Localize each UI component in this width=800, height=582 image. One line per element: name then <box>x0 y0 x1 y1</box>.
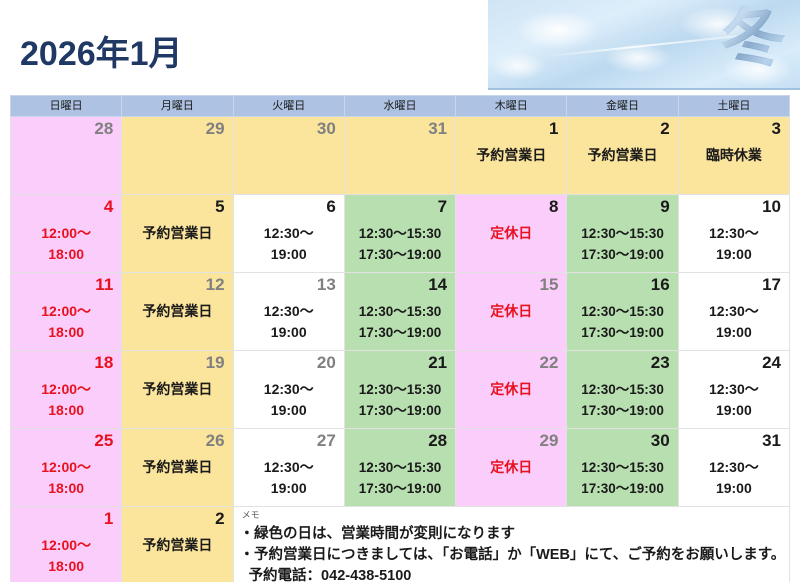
day-note: 12:30〜15:30 17:30〜19:00 <box>567 295 677 343</box>
day-number: 31 <box>679 429 789 451</box>
calendar-page: 冬 2026年1月 日曜日 月曜日 火曜日 水曜日 木曜日 金曜日 土曜日 28… <box>0 0 800 582</box>
day-note: 12:30〜15:30 17:30〜19:00 <box>345 295 455 343</box>
calendar-day-cell[interactable]: 1612:30〜15:30 17:30〜19:00 <box>567 273 678 351</box>
day-note: 12:00〜 18:00 <box>11 451 121 499</box>
day-number: 6 <box>234 195 344 217</box>
calendar-day-cell[interactable]: 2512:00〜 18:00 <box>11 429 122 507</box>
day-number: 17 <box>679 273 789 295</box>
day-note: 12:00〜 18:00 <box>11 373 121 421</box>
day-note: 予約営業日 <box>122 217 232 244</box>
day-note: 12:30〜15:30 17:30〜19:00 <box>567 451 677 499</box>
calendar-day-cell[interactable]: 1112:00〜 18:00 <box>11 273 122 351</box>
calendar-day-cell[interactable]: 28 <box>11 117 122 195</box>
day-note: 12:30〜 19:00 <box>234 451 344 499</box>
calendar-day-cell[interactable]: 1812:00〜 18:00 <box>11 351 122 429</box>
day-number: 28 <box>345 429 455 451</box>
day-note: 定休日 <box>456 217 566 244</box>
calendar-day-cell[interactable]: 1412:30〜15:30 17:30〜19:00 <box>344 273 455 351</box>
calendar-week-row: 2512:00〜 18:0026予約営業日2712:30〜 19:002812:… <box>11 429 790 507</box>
calendar-day-cell[interactable]: 2412:30〜 19:00 <box>678 351 789 429</box>
weekday-header-tuesday: 火曜日 <box>233 96 344 117</box>
day-note: 12:00〜 18:00 <box>11 295 121 343</box>
calendar-day-cell[interactable]: 912:30〜15:30 17:30〜19:00 <box>567 195 678 273</box>
day-number: 15 <box>456 273 566 295</box>
day-number: 30 <box>567 429 677 451</box>
day-note: 12:30〜 19:00 <box>679 217 789 265</box>
day-number: 4 <box>11 195 121 217</box>
calendar-day-cell[interactable]: 3112:30〜 19:00 <box>678 429 789 507</box>
calendar-day-cell[interactable]: 412:00〜 18:00 <box>11 195 122 273</box>
day-number: 1 <box>11 507 121 529</box>
day-number: 8 <box>456 195 566 217</box>
calendar-day-cell[interactable]: 15定休日 <box>456 273 567 351</box>
calendar-day-cell[interactable]: 31 <box>344 117 455 195</box>
day-note: 12:30〜15:30 17:30〜19:00 <box>345 217 455 265</box>
day-number: 26 <box>122 429 232 451</box>
day-note: 予約営業日 <box>122 529 232 556</box>
calendar-day-cell[interactable]: 712:30〜15:30 17:30〜19:00 <box>344 195 455 273</box>
day-number: 5 <box>122 195 232 217</box>
day-number: 1 <box>456 117 566 139</box>
weekday-header-monday: 月曜日 <box>122 96 233 117</box>
day-number: 2 <box>567 117 677 139</box>
calendar-day-cell[interactable]: 2712:30〜 19:00 <box>233 429 344 507</box>
day-note: 予約営業日 <box>122 295 232 322</box>
day-number: 24 <box>679 351 789 373</box>
day-note: 12:30〜 19:00 <box>679 295 789 343</box>
memo-lines: ・緑色の日は、営業時間が変則になります・予約営業日につきましては、「お電話」か「… <box>240 521 789 582</box>
calendar-day-cell[interactable]: 5予約営業日 <box>122 195 233 273</box>
calendar-day-cell[interactable]: 12予約営業日 <box>122 273 233 351</box>
calendar-day-cell[interactable]: 19予約営業日 <box>122 351 233 429</box>
calendar-week-row: 112:00〜 18:002予約営業日メモ・緑色の日は、営業時間が変則になります… <box>11 507 790 582</box>
banner-underline <box>488 88 800 90</box>
weekday-header-wednesday: 水曜日 <box>344 96 455 117</box>
calendar-day-cell[interactable]: 2012:30〜 19:00 <box>233 351 344 429</box>
day-number: 12 <box>122 273 232 295</box>
day-number: 30 <box>234 117 344 139</box>
calendar-day-cell[interactable]: 30 <box>233 117 344 195</box>
weekday-header-sunday: 日曜日 <box>11 96 122 117</box>
day-note: 12:30〜 19:00 <box>234 373 344 421</box>
day-note: 12:30〜15:30 17:30〜19:00 <box>567 217 677 265</box>
day-number: 31 <box>345 117 455 139</box>
winter-banner-image: 冬 <box>488 0 800 88</box>
calendar-week-row: 1112:00〜 18:0012予約営業日1312:30〜 19:001412:… <box>11 273 790 351</box>
memo-label: メモ <box>240 510 789 521</box>
day-number: 28 <box>11 117 121 139</box>
calendar-day-cell[interactable]: 2予約営業日 <box>567 117 678 195</box>
day-note: 予約営業日 <box>122 451 232 478</box>
day-number: 23 <box>567 351 677 373</box>
day-note: 定休日 <box>456 373 566 400</box>
day-note: 予約営業日 <box>567 139 677 166</box>
day-number: 7 <box>345 195 455 217</box>
day-note: 12:30〜15:30 17:30〜19:00 <box>567 373 677 421</box>
calendar-day-cell[interactable]: 2予約営業日 <box>122 507 233 582</box>
day-number: 2 <box>122 507 232 529</box>
day-note: 12:30〜15:30 17:30〜19:00 <box>345 373 455 421</box>
day-number: 10 <box>679 195 789 217</box>
day-note: 予約営業日 <box>456 139 566 166</box>
calendar-day-cell[interactable]: 1012:30〜 19:00 <box>678 195 789 273</box>
calendar-day-cell[interactable]: 2312:30〜15:30 17:30〜19:00 <box>567 351 678 429</box>
calendar-day-cell[interactable]: 1予約営業日 <box>456 117 567 195</box>
day-note: 定休日 <box>456 451 566 478</box>
memo-line: ・緑色の日は、営業時間が変則になります <box>240 524 789 545</box>
memo-cell: メモ・緑色の日は、営業時間が変則になります・予約営業日につきましては、「お電話」… <box>233 507 789 582</box>
day-note: 12:30〜15:30 17:30〜19:00 <box>345 451 455 499</box>
day-number: 14 <box>345 273 455 295</box>
day-number: 22 <box>456 351 566 373</box>
memo-line: ・予約営業日につきましては、「お電話」か「WEB」にて、ご予約をお願いします。 <box>240 545 789 566</box>
calendar-day-cell[interactable]: 2112:30〜15:30 17:30〜19:00 <box>344 351 455 429</box>
day-number: 29 <box>456 429 566 451</box>
weekday-header-friday: 金曜日 <box>567 96 678 117</box>
calendar-day-cell[interactable]: 2812:30〜15:30 17:30〜19:00 <box>344 429 455 507</box>
weekday-header-row: 日曜日 月曜日 火曜日 水曜日 木曜日 金曜日 土曜日 <box>11 96 790 117</box>
day-number: 19 <box>122 351 232 373</box>
weekday-header-saturday: 土曜日 <box>678 96 789 117</box>
calendar-day-cell[interactable]: 26予約営業日 <box>122 429 233 507</box>
day-note: 12:30〜 19:00 <box>234 217 344 265</box>
calendar-week-row: 412:00〜 18:005予約営業日612:30〜 19:00712:30〜1… <box>11 195 790 273</box>
calendar-week-row: 282930311予約営業日2予約営業日3臨時休業 <box>11 117 790 195</box>
calendar-body: 282930311予約営業日2予約営業日3臨時休業412:00〜 18:005予… <box>11 117 790 582</box>
day-number: 27 <box>234 429 344 451</box>
day-number: 29 <box>122 117 232 139</box>
day-number: 11 <box>11 273 121 295</box>
calendar-day-cell[interactable]: 22定休日 <box>456 351 567 429</box>
calendar-day-cell[interactable]: 8定休日 <box>456 195 567 273</box>
calendar-day-cell[interactable]: 3012:30〜15:30 17:30〜19:00 <box>567 429 678 507</box>
calendar-day-cell[interactable]: 1312:30〜 19:00 <box>233 273 344 351</box>
day-number: 20 <box>234 351 344 373</box>
calendar-day-cell[interactable]: 1712:30〜 19:00 <box>678 273 789 351</box>
day-number: 25 <box>11 429 121 451</box>
page-title: 2026年1月 <box>20 26 183 75</box>
day-note: 予約営業日 <box>122 373 232 400</box>
day-number: 21 <box>345 351 455 373</box>
calendar-week-row: 1812:00〜 18:0019予約営業日2012:30〜 19:002112:… <box>11 351 790 429</box>
day-number: 9 <box>567 195 677 217</box>
day-note: 臨時休業 <box>679 139 789 166</box>
memo-line: 予約電話：042-438-5100 <box>240 566 789 582</box>
day-note: 定休日 <box>456 295 566 322</box>
weekday-header-thursday: 木曜日 <box>456 96 567 117</box>
day-note: 12:00〜 18:00 <box>11 217 121 265</box>
calendar-table: 日曜日 月曜日 火曜日 水曜日 木曜日 金曜日 土曜日 282930311予約営… <box>10 95 790 582</box>
day-note: 12:00〜 18:00 <box>11 529 121 577</box>
day-note: 12:30〜 19:00 <box>679 373 789 421</box>
calendar-day-cell[interactable]: 612:30〜 19:00 <box>233 195 344 273</box>
day-number: 16 <box>567 273 677 295</box>
winter-kanji-icon: 冬 <box>717 1 790 78</box>
day-number: 3 <box>679 117 789 139</box>
calendar-day-cell[interactable]: 29 <box>122 117 233 195</box>
calendar-day-cell[interactable]: 3臨時休業 <box>678 117 789 195</box>
calendar-day-cell[interactable]: 29定休日 <box>456 429 567 507</box>
day-note: 12:30〜 19:00 <box>679 451 789 499</box>
day-number: 18 <box>11 351 121 373</box>
day-note: 12:30〜 19:00 <box>234 295 344 343</box>
calendar-day-cell[interactable]: 112:00〜 18:00 <box>11 507 122 582</box>
day-number: 13 <box>234 273 344 295</box>
